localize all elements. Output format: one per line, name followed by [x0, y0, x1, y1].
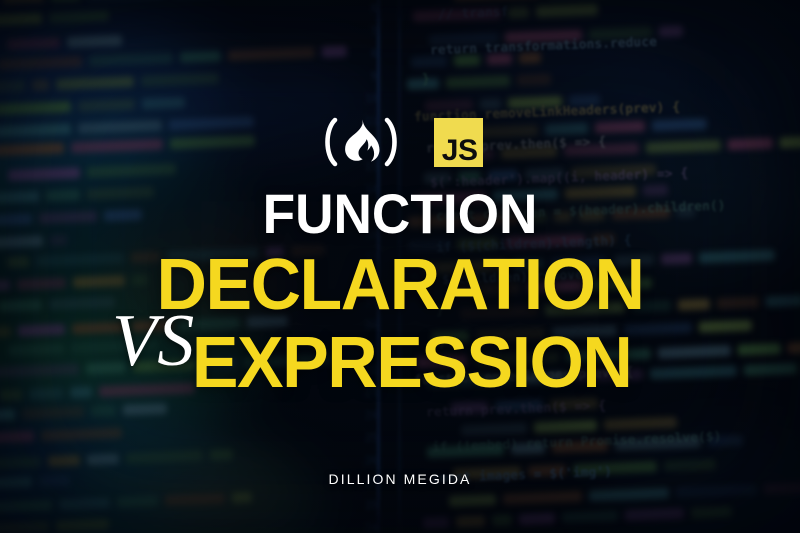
javascript-badge: JS	[434, 118, 483, 167]
title-versus: VS	[112, 304, 194, 378]
author-credit: DILLION MEGIDA	[0, 471, 800, 487]
title-line-function: FUNCTION	[20, 186, 780, 242]
poster-title: FUNCTION DECLARATION EXPRESSION VS	[0, 186, 800, 399]
logo-row: JS	[0, 116, 800, 168]
poster-content: JS FUNCTION DECLARATION EXPRESSION VS DI…	[0, 0, 800, 533]
poster-canvas: // transfreturn transformations.reduce}f…	[0, 0, 800, 533]
javascript-badge-label: JS	[442, 137, 478, 166]
freecodecamp-flame-icon	[318, 116, 404, 168]
